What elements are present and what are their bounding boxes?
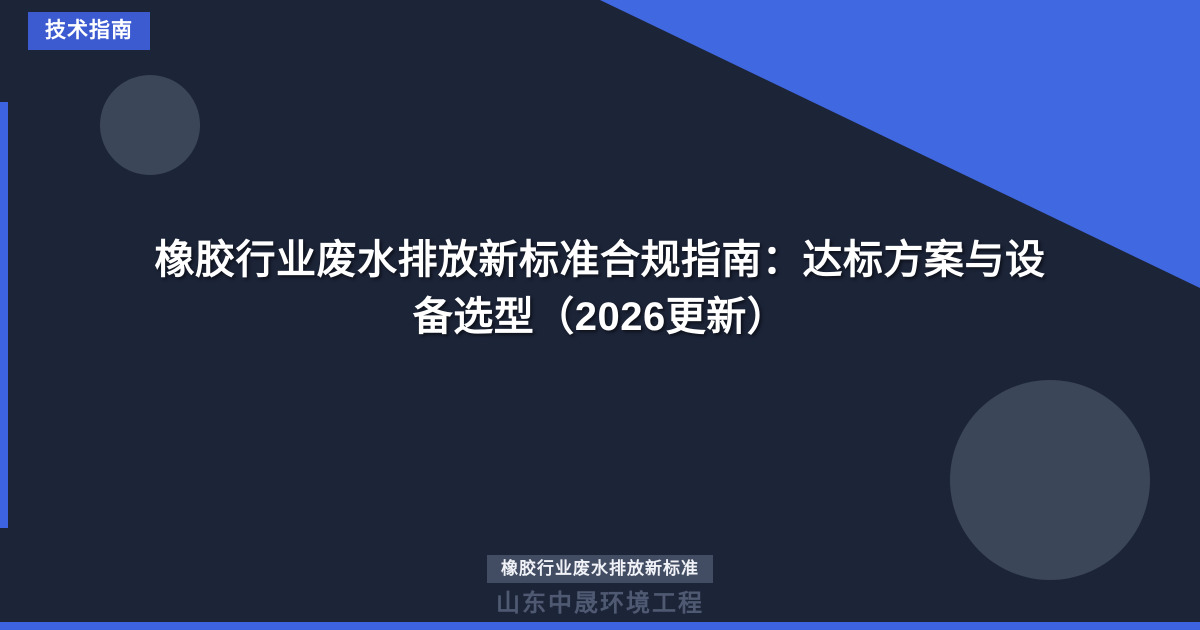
footer-topic-tag: 橡胶行业废水排放新标准 [487, 555, 713, 583]
cover-banner: 技术指南 橡胶行业废水排放新标准合规指南：达标方案与设备选型（2026更新） 橡… [0, 0, 1200, 630]
page-title: 橡胶行业废水排放新标准合规指南：达标方案与设备选型（2026更新） [0, 232, 1200, 346]
page-title-text: 橡胶行业废水排放新标准合规指南：达标方案与设备选型（2026更新） [150, 232, 1050, 346]
footer-company-name: 山东中晟环境工程 [0, 592, 1200, 616]
footer-block: 橡胶行业废水排放新标准 山东中晟环境工程 [0, 555, 1200, 616]
bottom-accent-bar [0, 622, 1200, 630]
category-badge: 技术指南 [28, 12, 150, 50]
